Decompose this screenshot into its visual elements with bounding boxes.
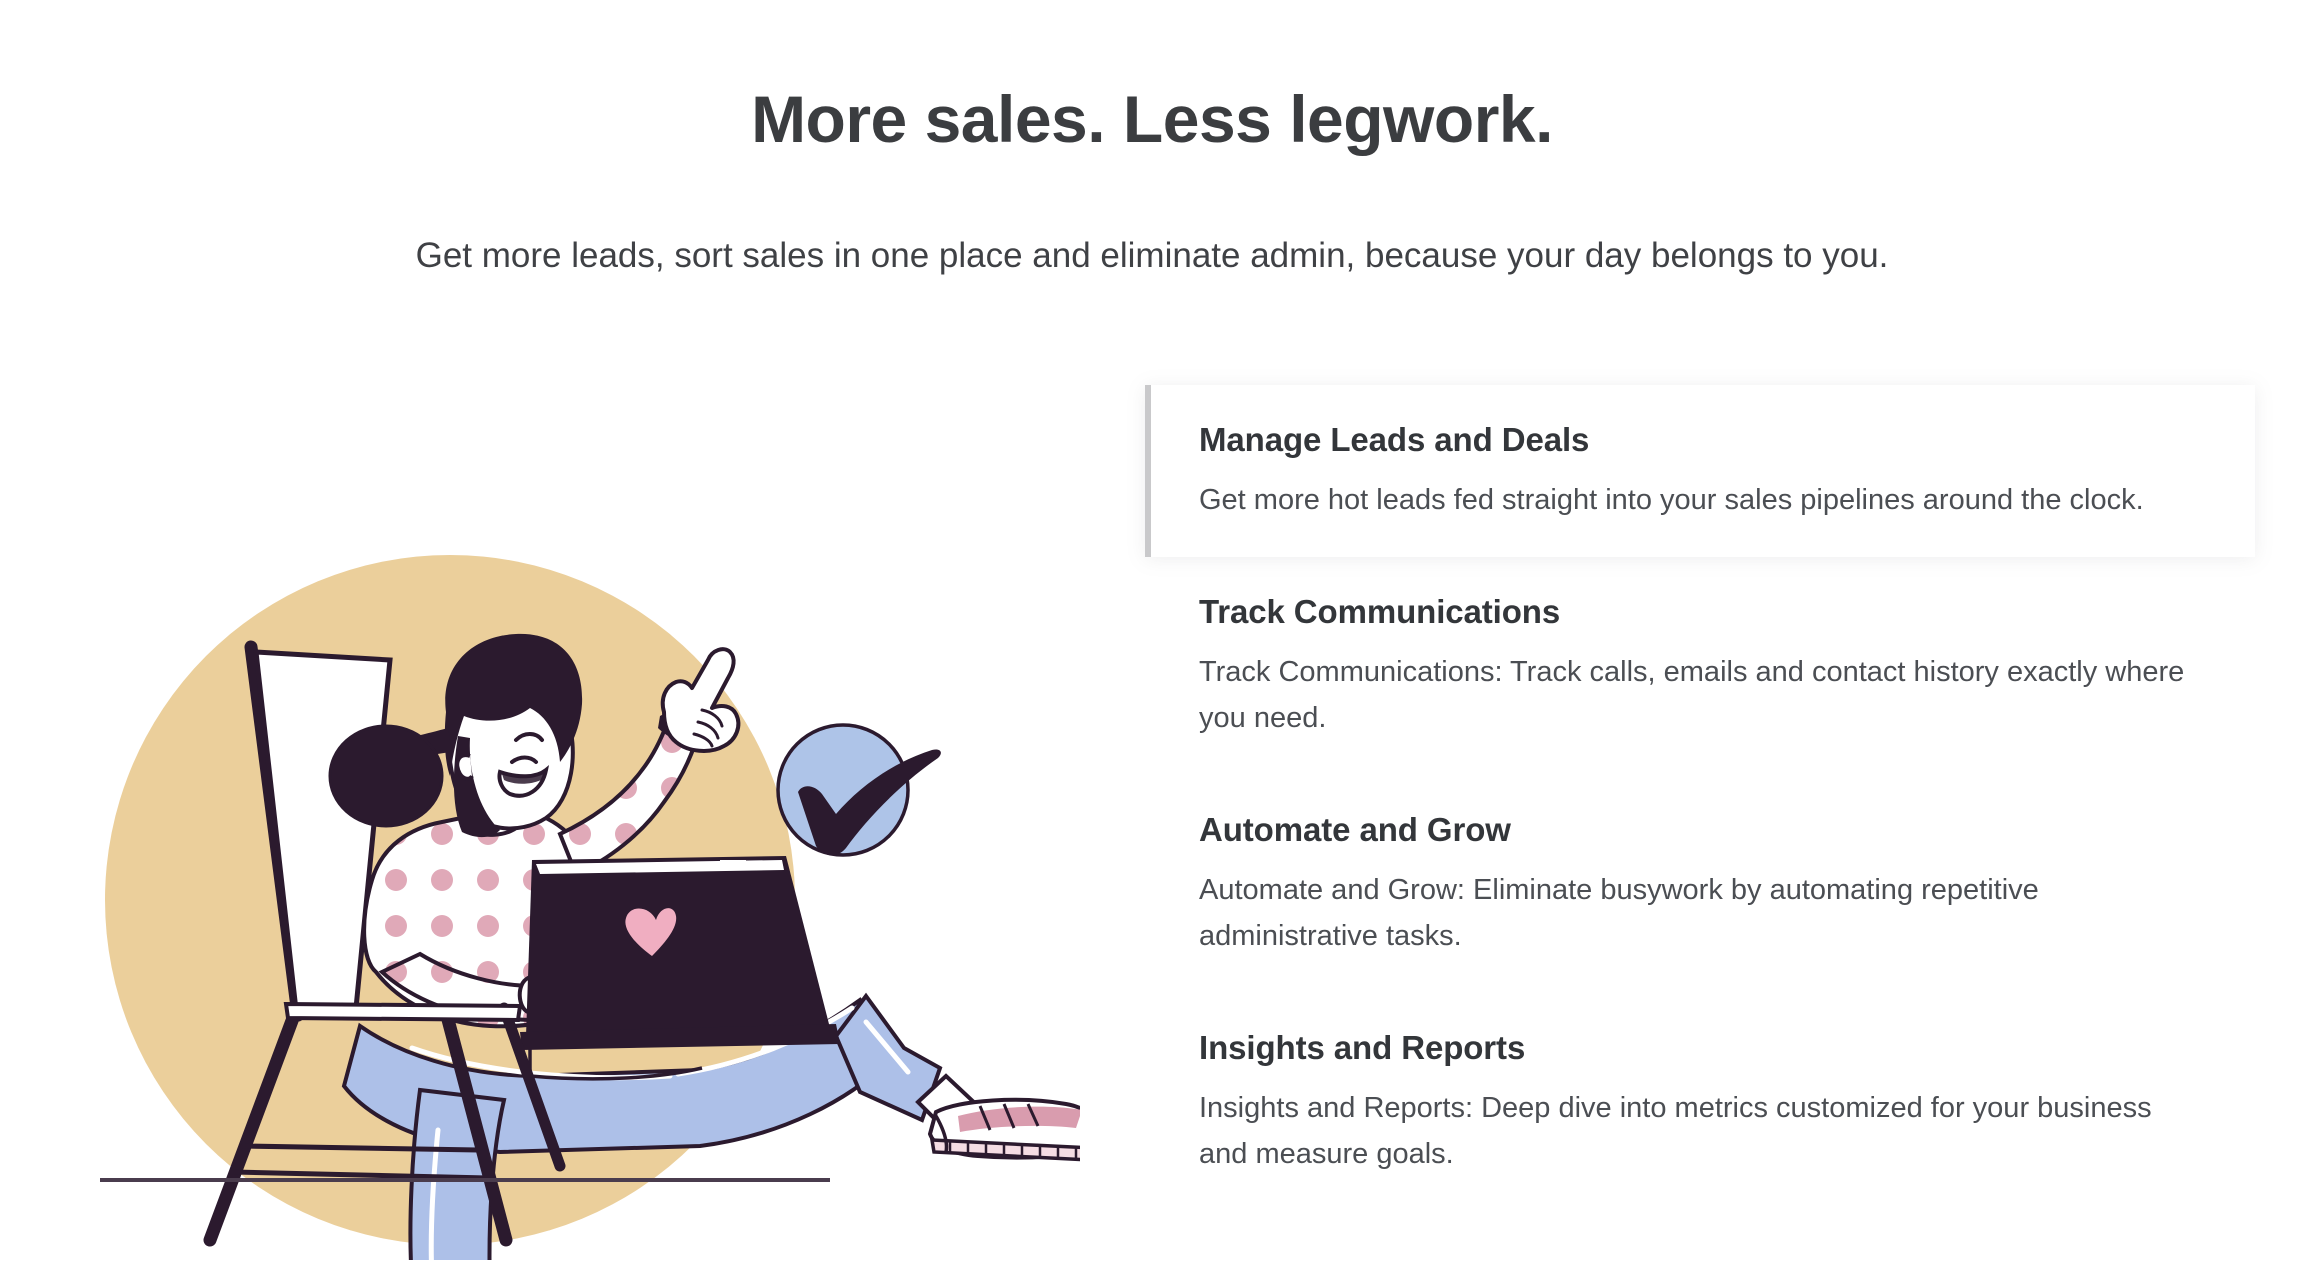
check-badge (778, 725, 941, 855)
feature-description: Get more hot leads fed straight into you… (1199, 477, 2184, 523)
feature-description: Insights and Reports: Deep dive into met… (1199, 1085, 2203, 1177)
feature-item-automate-and-grow[interactable]: Automate and Grow Automate and Grow: Eli… (1145, 775, 2255, 993)
feature-description: Automate and Grow: Eliminate busywork by… (1199, 867, 2203, 959)
laptop (520, 856, 840, 1050)
chair-seat-front (286, 1004, 520, 1020)
feature-list: Manage Leads and Deals Get more hot lead… (1145, 385, 2255, 1211)
feature-title: Manage Leads and Deals (1199, 419, 2203, 461)
feature-item-manage-leads-and-deals[interactable]: Manage Leads and Deals Get more hot lead… (1145, 385, 2255, 557)
feature-item-insights-and-reports[interactable]: Insights and Reports Insights and Report… (1145, 993, 2255, 1211)
hero-feature-section: More sales. Less legwork. Get more leads… (0, 0, 2304, 1274)
feature-title: Track Communications (1199, 591, 2203, 633)
feature-description: Track Communications: Track calls, email… (1199, 649, 2203, 741)
feature-item-track-communications[interactable]: Track Communications Track Communication… (1145, 557, 2255, 775)
page-title: More sales. Less legwork. (0, 80, 2304, 158)
page-subtitle: Get more leads, sort sales in one place … (0, 233, 2304, 279)
feature-title: Automate and Grow (1199, 809, 2203, 851)
feature-title: Insights and Reports (1199, 1027, 2203, 1069)
hero-illustration (60, 360, 1080, 1260)
sneaker-right (930, 1100, 1080, 1160)
ear (457, 755, 472, 779)
